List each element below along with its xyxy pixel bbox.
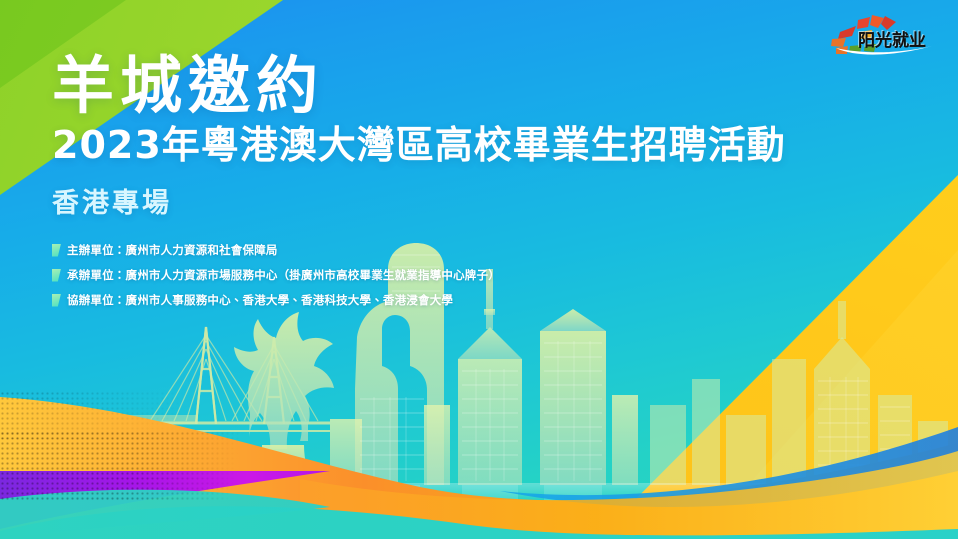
- bullet-marker-icon: [52, 294, 61, 307]
- page-title: 羊城邀約: [52, 54, 882, 118]
- organizer-label: 協辦單位：廣州市人事服務中心、香港大學、香港科技大學、香港浸會大學: [67, 292, 453, 308]
- bottom-wave-ribbons: [0, 379, 958, 539]
- organizer-label: 主辦單位：廣州市人力資源和社會保障局: [67, 242, 278, 258]
- venue-title: 香港專場: [52, 181, 882, 220]
- bullet-marker-icon: [52, 244, 61, 257]
- sunshine-employment-logo: 阳光就业 阳光就业 阳光就业: [822, 12, 944, 60]
- poster-text-block: 羊城邀約 2023年粵港澳大灣區高校畢業生招聘活動 香港專場 主辦單位：廣州市人…: [52, 54, 882, 317]
- list-item: 協辦單位：廣州市人事服務中心、香港大學、香港科技大學、香港浸會大學: [52, 292, 882, 308]
- organizer-list: 主辦單位：廣州市人力資源和社會保障局 承辦單位：廣州市人力資源市場服務中心（掛廣…: [52, 242, 882, 308]
- list-item: 主辦單位：廣州市人力資源和社會保障局: [52, 242, 882, 258]
- organizer-label: 承辦單位：廣州市人力資源市場服務中心（掛廣州市高校畢業生就業指導中心牌子）: [67, 267, 500, 283]
- subtitle: 2023年粵港澳大灣區高校畢業生招聘活動: [52, 124, 882, 167]
- list-item: 承辦單位：廣州市人力資源市場服務中心（掛廣州市高校畢業生就業指導中心牌子）: [52, 267, 882, 283]
- bullet-marker-icon: [52, 269, 61, 282]
- recruitment-poster: 羊城邀約 2023年粵港澳大灣區高校畢業生招聘活動 香港專場 主辦單位：廣州市人…: [0, 0, 958, 539]
- svg-text:阳光就业: 阳光就业: [858, 30, 926, 51]
